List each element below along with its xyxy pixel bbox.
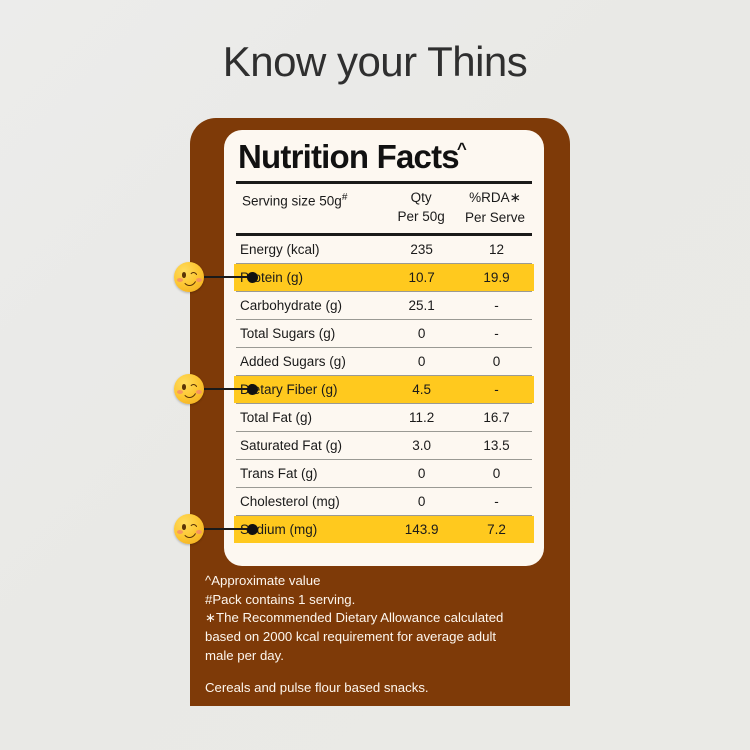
emoji-right-cheek <box>196 390 202 394</box>
nutrient-qty: 10.7 <box>384 270 459 285</box>
nutrient-name: Cholesterol (mg) <box>234 494 384 509</box>
nutrient-name: Saturated Fat (g) <box>234 438 384 453</box>
footnote-approximate: ^Approximate value <box>205 572 551 591</box>
nutrient-rda: 13.5 <box>459 438 534 453</box>
callout-dot <box>247 272 258 283</box>
nutrient-rda: 0 <box>459 466 534 481</box>
nutrition-row: Protein (g)10.719.9 <box>234 264 534 291</box>
nutrient-qty: 0 <box>384 326 459 341</box>
nutrient-name: Trans Fat (g) <box>234 466 384 481</box>
callout-dot <box>247 524 258 535</box>
nutrient-qty: 143.9 <box>384 522 459 537</box>
serving-footnote-marker: # <box>342 192 348 203</box>
nutrient-name: Total Fat (g) <box>234 410 384 425</box>
rda-footnote-marker: ∗ <box>510 190 521 205</box>
nutrition-row: Added Sugars (g)00 <box>234 348 534 375</box>
callout-dot <box>247 384 258 395</box>
nutrient-qty: 4.5 <box>384 382 459 397</box>
nutrition-facts-panel: Nutrition Facts^ Serving size 50g# Qty P… <box>224 130 544 566</box>
table-column-header: Serving size 50g# Qty Per 50g %RDA∗ Per … <box>234 184 534 231</box>
nutrition-facts-heading-wrap: Nutrition Facts^ <box>234 130 534 179</box>
nutrition-row: Sodium (mg)143.97.2 <box>234 516 534 543</box>
nutrient-name: Added Sugars (g) <box>234 354 384 369</box>
callout-leader-line <box>204 276 248 279</box>
footnote-pack-servings: #Pack contains 1 serving. <box>205 591 551 610</box>
nutrient-qty: 25.1 <box>384 298 459 313</box>
nutrition-row: Dietary Fiber (g)4.5- <box>234 376 534 403</box>
nutrient-rda: 12 <box>459 242 534 257</box>
callout-leader-line <box>204 528 248 531</box>
nutrient-rda: - <box>459 298 534 313</box>
nutrient-rda: - <box>459 326 534 341</box>
nutrient-qty: 3.0 <box>384 438 459 453</box>
nutrition-row: Carbohydrate (g)25.1- <box>234 292 534 319</box>
qty-column-header: Qty Per 50g <box>384 190 458 224</box>
rda-column-header: %RDA∗ Per Serve <box>458 190 532 225</box>
callout-leader-line <box>204 388 248 391</box>
nutrient-rda: - <box>459 382 534 397</box>
nutrition-rows: Energy (kcal)23512Protein (g)10.719.9Car… <box>234 236 534 543</box>
nutrient-rda: 16.7 <box>459 410 534 425</box>
nutrient-callout <box>174 262 258 292</box>
serving-size-label: Serving size 50g# <box>236 190 384 209</box>
heading-footnote-marker: ^ <box>457 139 467 158</box>
nutrient-qty: 0 <box>384 494 459 509</box>
product-description: Cereals and pulse flour based snacks. <box>205 679 551 698</box>
emoji-right-cheek <box>196 278 202 282</box>
nutrient-callout <box>174 374 258 404</box>
footnote-rda-2: based on 2000 kcal requirement for avera… <box>205 628 551 647</box>
nutrition-row: Energy (kcal)23512 <box>234 236 534 263</box>
emoji-right-cheek <box>196 530 202 534</box>
emoji-smile <box>182 529 197 538</box>
nutrient-rda: 19.9 <box>459 270 534 285</box>
winking-face-emoji <box>174 262 204 292</box>
emoji-smile <box>182 277 197 286</box>
nutrient-name: Carbohydrate (g) <box>234 298 384 313</box>
nutrient-callout <box>174 514 258 544</box>
nutrient-qty: 0 <box>384 466 459 481</box>
nutrient-qty: 0 <box>384 354 459 369</box>
nutrient-name: Energy (kcal) <box>234 242 384 257</box>
nutrition-row: Total Sugars (g)0- <box>234 320 534 347</box>
footnote-rda-1: ∗The Recommended Dietary Allowance calcu… <box>205 609 551 628</box>
nutrition-row: Trans Fat (g)00 <box>234 460 534 487</box>
footnote-rda-3: male per day. <box>205 647 551 666</box>
winking-face-emoji <box>174 514 204 544</box>
nutrient-rda: - <box>459 494 534 509</box>
nutrient-qty: 235 <box>384 242 459 257</box>
page-title: Know your Thins <box>0 38 750 86</box>
nutrient-name: Total Sugars (g) <box>234 326 384 341</box>
emoji-smile <box>182 389 197 398</box>
footnotes: ^Approximate value #Pack contains 1 serv… <box>205 572 551 697</box>
nutrient-rda: 0 <box>459 354 534 369</box>
winking-face-emoji <box>174 374 204 404</box>
nutrient-rda: 7.2 <box>459 522 534 537</box>
nutrition-facts-heading: Nutrition Facts <box>238 140 459 175</box>
nutrition-row: Cholesterol (mg)0- <box>234 488 534 515</box>
nutrition-row: Total Fat (g)11.216.7 <box>234 404 534 431</box>
nutrient-qty: 11.2 <box>384 410 459 425</box>
nutrition-row: Saturated Fat (g)3.013.5 <box>234 432 534 459</box>
